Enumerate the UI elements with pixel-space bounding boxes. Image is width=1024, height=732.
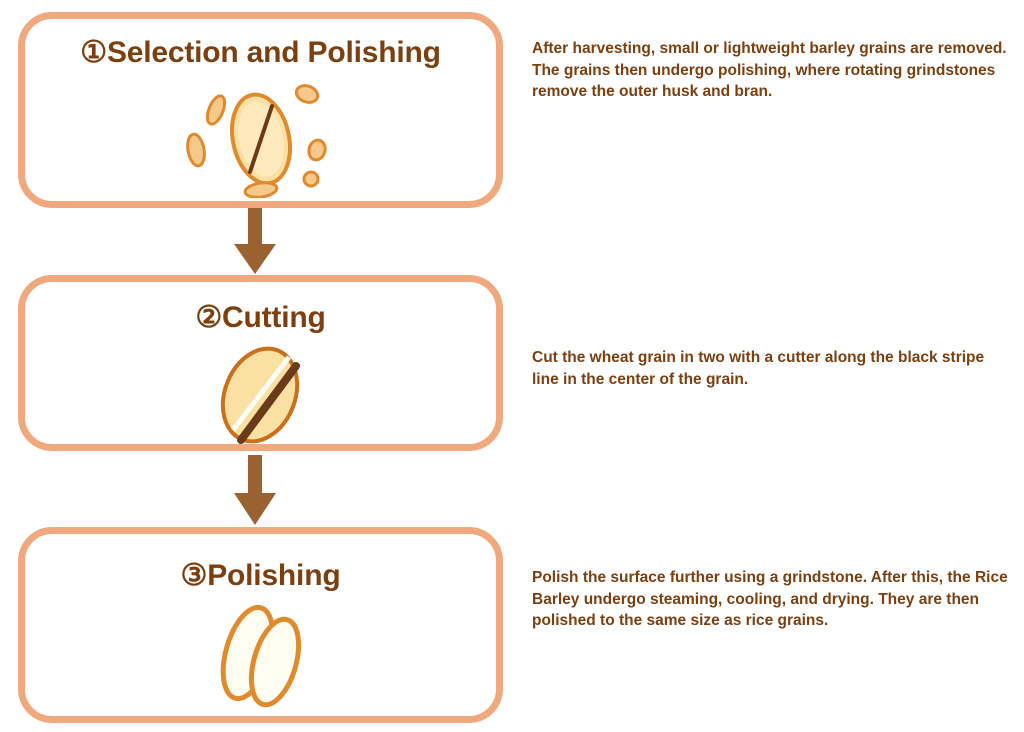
step-box-1[interactable]: ①Selection and Polishing [18,12,503,208]
step-heading-1: ①Selection and Polishing [25,35,496,70]
step-description-1: After harvesting, small or lightweight b… [532,38,1012,103]
process-flow-diagram: ①Selection and Polishing After harve [0,0,1024,732]
down-arrow-icon [233,455,277,527]
step-description-2: Cut the wheat grain in two with a cutter… [532,347,1012,390]
step-figure-2 [25,340,496,450]
down-arrow-icon [233,208,277,276]
barley-grain-cut-in-two-icon [203,340,318,450]
arrow-step2-to-step3 [233,455,277,527]
arrow-step1-to-step2 [233,208,277,276]
step-figure-1 [25,79,496,199]
step-figure-3 [25,600,496,710]
step-box-3[interactable]: ③Polishing [18,527,503,723]
step-box-2[interactable]: ②Cutting [18,275,503,451]
step-description-3: Polish the surface further using a grind… [532,567,1012,632]
step-row-3: ③Polishing Polish the surface further us… [0,527,1024,727]
two-polished-barley-halves-icon [203,600,318,710]
step-heading-3: ③Polishing [25,558,496,593]
step-row-2: ②Cutting Cut the wheat grain in two with… [0,275,1024,455]
barley-grain-with-husk-fragments-icon [176,80,346,198]
step-row-1: ①Selection and Polishing After harve [0,0,1024,215]
step-heading-2: ②Cutting [25,300,496,335]
